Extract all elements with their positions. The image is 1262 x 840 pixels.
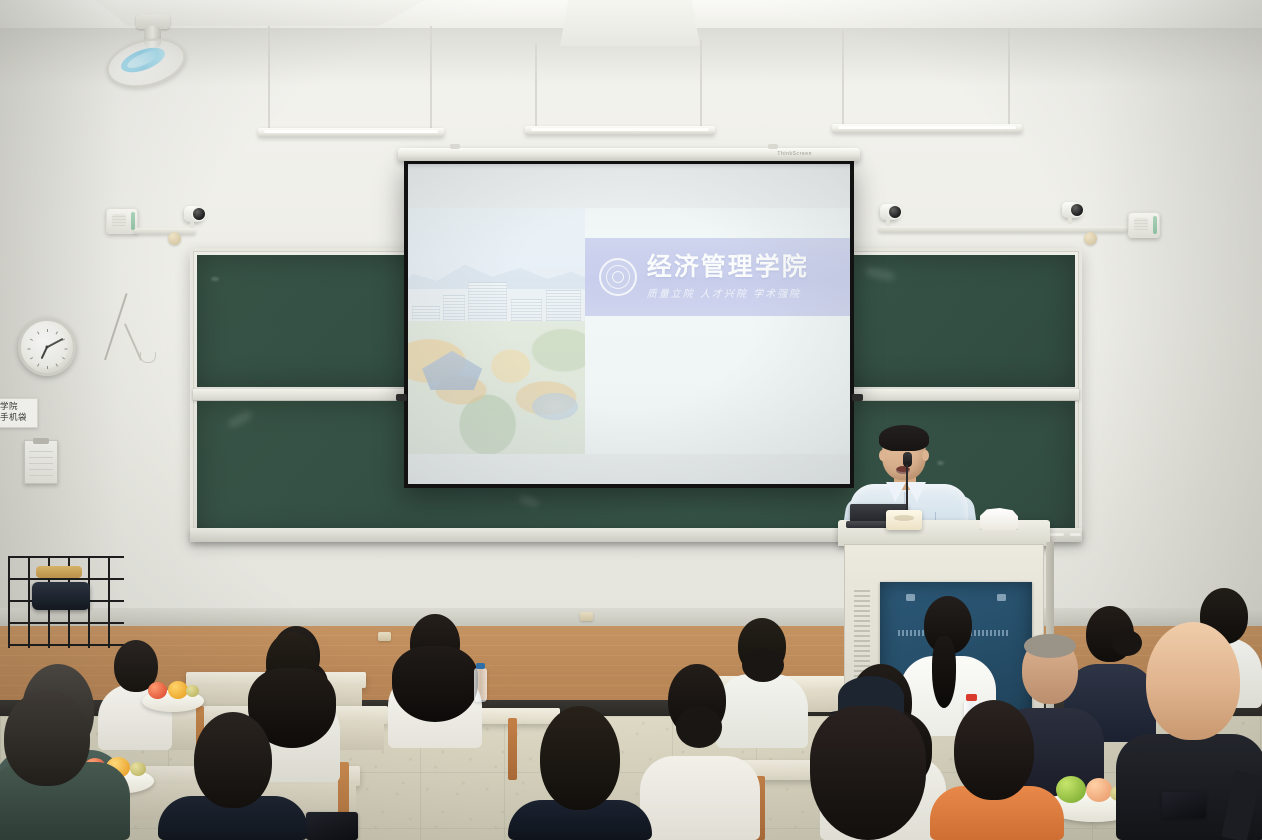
person-head xyxy=(1146,622,1240,740)
rack-bag xyxy=(32,582,90,610)
light-rod-2 xyxy=(430,26,432,130)
bottle-cap xyxy=(476,663,485,669)
wall-shading-left xyxy=(0,0,120,620)
projector-brand-label: ThinkScreen xyxy=(777,151,812,157)
fan-cage xyxy=(102,31,191,95)
person-head xyxy=(540,706,620,810)
screen-hook-right xyxy=(768,144,778,149)
audience-person-r1-3 xyxy=(386,614,484,748)
camera-lens xyxy=(1071,204,1083,216)
photo-pond xyxy=(532,393,578,420)
clock-minute-hand xyxy=(47,338,64,348)
ceiling-light-right xyxy=(832,124,1022,133)
person-head xyxy=(4,690,90,786)
rack-top-item xyxy=(36,566,82,578)
audience-person-r3-3 xyxy=(640,664,760,840)
speaker-grill xyxy=(1134,218,1148,232)
wall-sign-line1: 理学院 xyxy=(0,402,37,413)
camera-lens xyxy=(889,206,901,218)
screen-ear-left xyxy=(396,394,407,401)
light-rod-6 xyxy=(1008,28,1010,126)
screen-ear-right xyxy=(852,394,863,401)
camera-arm xyxy=(886,219,890,226)
clock-face xyxy=(26,326,68,368)
fruit-plate-r2 xyxy=(142,690,204,712)
light-rod-5 xyxy=(842,30,844,126)
person-body xyxy=(640,756,760,840)
slide-subtitle: 质量立院 人才兴院 学术强院 xyxy=(647,285,809,300)
light-rod-3 xyxy=(535,44,537,128)
clock-center xyxy=(46,346,49,349)
classroom-photo: 理学院 堂手机袋 xyxy=(0,0,1262,840)
camera-arm xyxy=(190,221,194,228)
lectern-panel-icon-right xyxy=(997,594,1006,601)
chalk-piece xyxy=(1070,533,1081,536)
projection-screen[interactable]: 经济管理学院 质量立院 人才兴院 学术强院 xyxy=(404,160,854,488)
person-hair xyxy=(392,646,478,722)
camera-arm xyxy=(1068,217,1072,224)
person-hair xyxy=(810,706,926,840)
camera-right-1 xyxy=(880,202,904,222)
audience-person-r3-4 xyxy=(804,676,936,840)
slide-title-band: 经济管理学院 质量立院 人才兴院 学术强院 xyxy=(585,238,850,316)
wall-sign: 理学院 堂手机袋 xyxy=(0,398,38,428)
water-bottle-r3 xyxy=(474,668,487,702)
audience-person-foreground-left xyxy=(0,690,120,840)
speaker-grill xyxy=(112,214,126,228)
chalk-piece xyxy=(1048,533,1064,536)
smartphone-row3-right[interactable] xyxy=(1162,792,1206,818)
fruit-grape xyxy=(130,762,146,776)
rail-knob-right xyxy=(1084,232,1097,245)
speaker-right xyxy=(1128,212,1160,238)
smartphone-row3[interactable] xyxy=(306,812,358,840)
wall-sign-line2: 堂手机袋 xyxy=(0,413,37,424)
slide-text-block: 经济管理学院 质量立院 人才兴院 学术强院 xyxy=(647,254,809,299)
person-hair-bun xyxy=(676,706,722,748)
rail-knob-left xyxy=(168,232,181,245)
person-head xyxy=(954,700,1034,800)
tissue-packet-left xyxy=(886,510,922,530)
school-emblem-icon xyxy=(599,258,637,296)
wall-clock xyxy=(18,318,76,376)
wall-outlet[interactable] xyxy=(580,612,593,621)
wall-fan xyxy=(96,14,186,86)
light-rod-1 xyxy=(268,26,270,130)
presenter-hair xyxy=(879,425,929,451)
audience-person-r3-5 xyxy=(930,700,1064,840)
ceiling-beam-center xyxy=(560,0,700,46)
photo-sky xyxy=(408,208,585,282)
projector-screen-roller[interactable]: ThinkScreen xyxy=(398,148,860,161)
wall-shading-right xyxy=(1092,0,1262,620)
person-head xyxy=(194,712,272,808)
wall-clipboard xyxy=(24,440,58,484)
wire-shelf-rack xyxy=(8,556,124,648)
camera-left xyxy=(184,204,208,224)
fruit-apple xyxy=(148,682,167,699)
person-hair-fringe xyxy=(1024,634,1076,658)
audience-person-r3-1 xyxy=(158,712,308,840)
wall-rail-left xyxy=(134,228,196,234)
fruit-orange xyxy=(168,681,188,699)
slide-title: 经济管理学院 xyxy=(647,254,809,280)
slide-campus-photo xyxy=(408,208,585,454)
audience-person-r3-2 xyxy=(508,706,652,840)
camera-right-2 xyxy=(1062,200,1086,220)
fruit-grape xyxy=(186,685,199,697)
ceiling-light-left xyxy=(258,128,444,137)
tissue-packet-right xyxy=(980,508,1018,530)
camera-lens xyxy=(193,208,205,220)
screen-hook-left xyxy=(450,144,460,149)
fruit-peach xyxy=(1086,778,1112,802)
ceiling-light-center xyxy=(525,126,715,135)
light-rod-4 xyxy=(700,40,702,128)
